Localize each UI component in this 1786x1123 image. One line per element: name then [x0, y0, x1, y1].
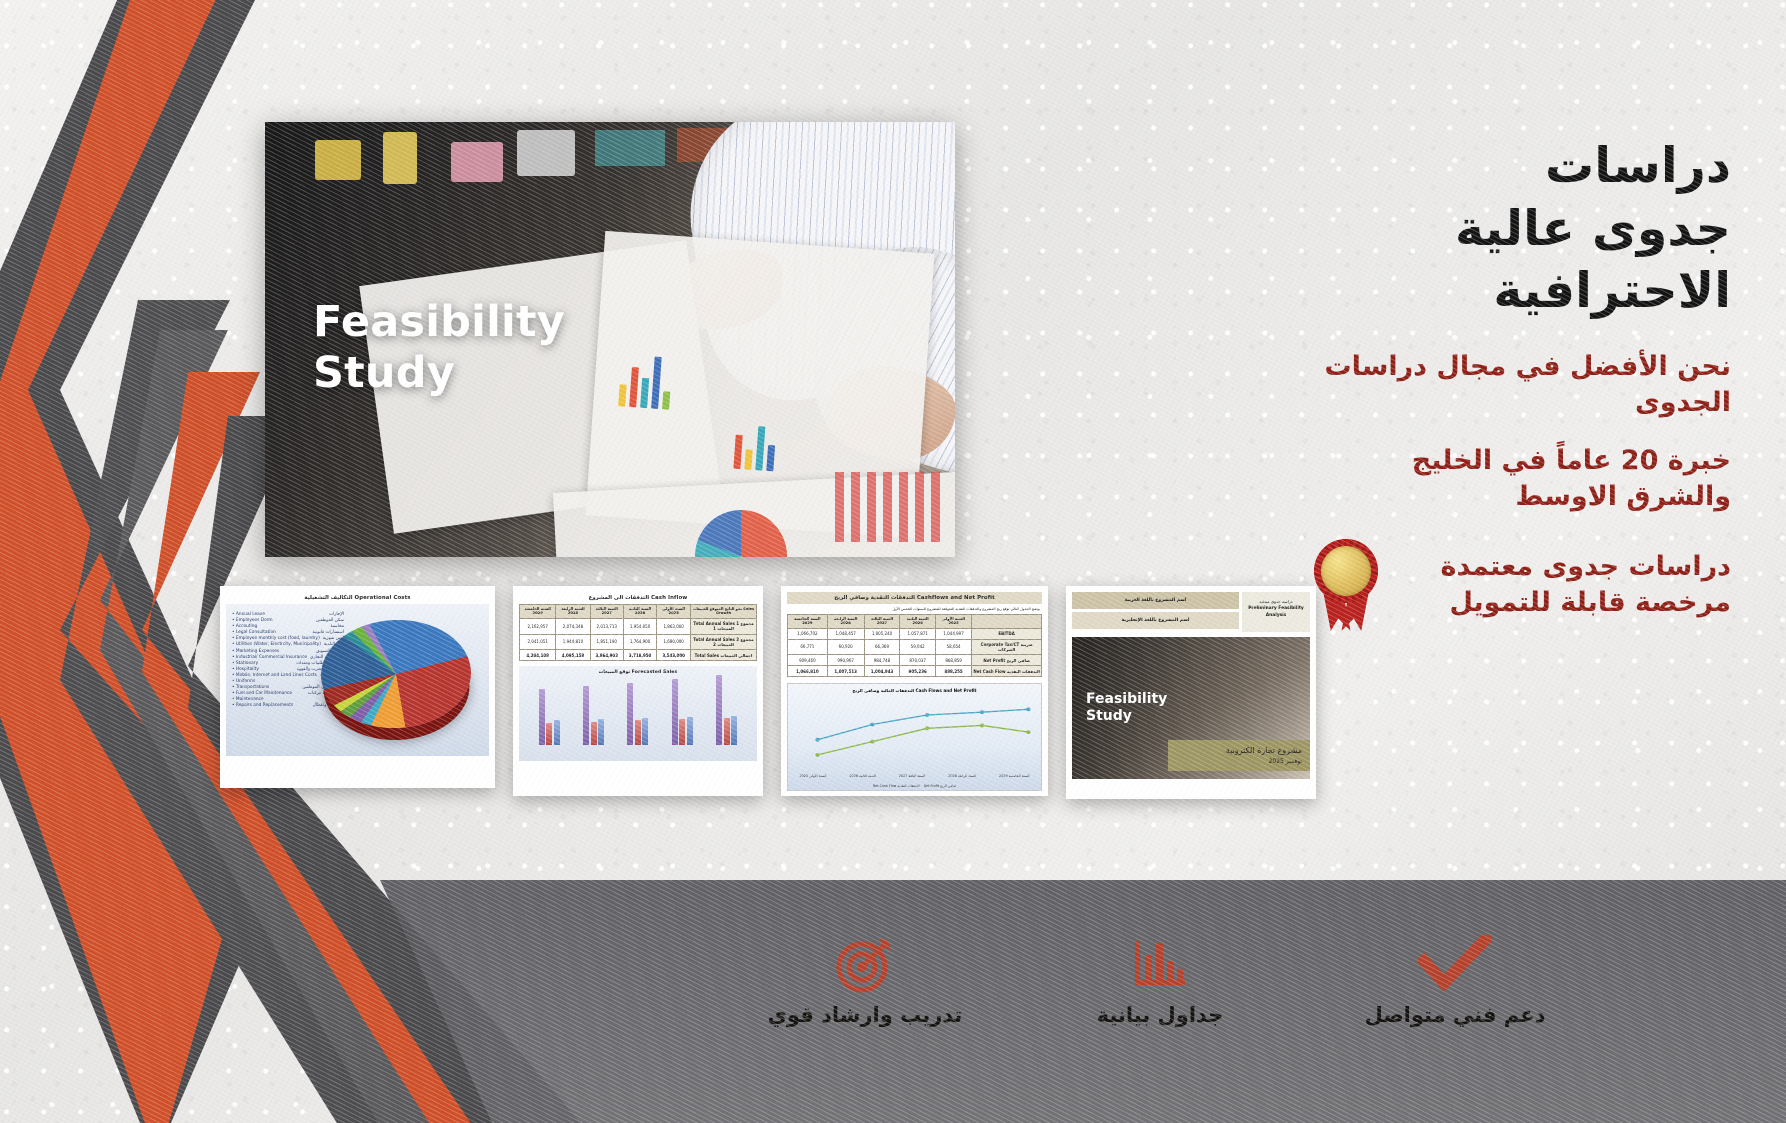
- cover-corner-en: Preliminary Feasibility Analysis: [1248, 606, 1304, 618]
- bar-group: [716, 675, 737, 745]
- hero-title-line-1: Feasibility: [313, 297, 565, 348]
- sticky-note-white: [517, 130, 575, 176]
- cover-project-date: نوفمبر 2025: [1176, 758, 1302, 765]
- bar-group: [539, 689, 560, 745]
- cover-header: اسم المشروع باللغة العربية اسم المشروع ب…: [1072, 592, 1310, 632]
- thumbnail-cover-page[interactable]: اسم المشروع باللغة العربية اسم المشروع ب…: [1066, 586, 1316, 799]
- table-row: 909,460 990,967 984,748 870,037 868,859 …: [788, 655, 1042, 666]
- thumb3-note: يوضح الجدول التالي توقع ربح المشروع والت…: [787, 604, 1042, 614]
- line-chart-svg: [788, 696, 1041, 772]
- cover-photo-title-line-1: Feasibility: [1086, 691, 1167, 708]
- sticky-note-yellow: [315, 140, 361, 180]
- thumbnail-cashflow-net-profit[interactable]: التدفقات النقدية وصافي الربح Cashflows a…: [781, 586, 1048, 796]
- sticky-note-pink: [451, 142, 503, 182]
- mini-bar-chart-a: [618, 352, 673, 409]
- line-chart-legend: Net Cash Flow التدفقات النقدية Net Profi…: [788, 784, 1041, 788]
- table-row: 1,066,810 1,007,513 1,004,943 905,236 88…: [788, 666, 1042, 677]
- cover-project-names: اسم المشروع باللغة العربية اسم المشروع ب…: [1072, 592, 1239, 632]
- thumbnail-operational-costs[interactable]: التكاليف التشغيلية Operational Costs Ann…: [220, 586, 495, 788]
- hero-title: Feasibility Study: [313, 297, 565, 398]
- thumb3-line-chart: التدفقات المالية وصافي الربح Cash Flows …: [787, 683, 1042, 791]
- thumb1-pie-chart: Annual Leaveالإجازات Employees Dormسكن ا…: [226, 604, 489, 756]
- headline-line-2: جدوى عالية: [1311, 198, 1731, 261]
- cover-name-en: اسم المشروع باللغة الإنجليزية: [1072, 612, 1239, 629]
- feature-training[interactable]: تدريب وارشاد قوي: [760, 931, 970, 1027]
- feature-row: دعم فني متواصل جداول بيانية: [760, 931, 1560, 1027]
- check-mark-icon-svg: [1418, 935, 1492, 993]
- table-row: 1,066,702 1,048,457 1,005,240 1,057,871 …: [788, 628, 1042, 639]
- hero-title-line-2: Study: [313, 348, 565, 399]
- feature-support[interactable]: دعم فني متواصل: [1350, 931, 1560, 1027]
- thumb2-title: التدفقات الى المشروع Cash Inflow: [519, 592, 757, 604]
- table-header-row: السنة الخامسة 2029 السنة الرابعة 2028 ال…: [520, 605, 757, 619]
- medal-disc: [1314, 539, 1378, 603]
- selling-point-3: دراسات جدوى معتمدة مرخصة قابلة للتمويل: [1395, 549, 1731, 621]
- thumb2-bar-chart: توقع المبيعات Forecasted Sales: [519, 666, 757, 761]
- cover-corner-ar: دراسة جدوى مبدئية: [1244, 599, 1308, 605]
- document-thumbnail-strip: التكاليف التشغيلية Operational Costs Ann…: [220, 586, 1316, 799]
- cover-photo-title: Feasibility Study: [1086, 691, 1167, 725]
- page-title: دراسات جدوى عالية الاحترافية: [1311, 135, 1731, 323]
- table-total-row: 4,204,108 4,095,158 3,864,903 3,718,950 …: [520, 650, 757, 661]
- mini-bar-chart-b: [733, 421, 776, 472]
- target-arrow-icon: [760, 931, 970, 997]
- bar-chart-title: توقع المبيعات Forecasted Sales: [519, 667, 757, 678]
- cover-project-name: مشروع تجارة الكترونية: [1176, 746, 1302, 755]
- table-row: 2,162,957 2,074,348 2,013,713 1,954,050 …: [520, 618, 757, 634]
- cover-photo-title-line-2: Study: [1086, 708, 1167, 725]
- thumbnail-cash-inflow[interactable]: التدفقات الى المشروع Cash Inflow السنة ا…: [513, 586, 763, 796]
- legend-item: Repairs and Replacementsبدل تالف واعطال: [232, 703, 344, 709]
- bar-chart-icon-svg: [1131, 935, 1189, 993]
- hero-photo: Feasibility Study: [265, 122, 955, 557]
- headline-line-1: دراسات: [1311, 135, 1731, 198]
- bar-group: [627, 683, 648, 745]
- line-chart-x-axis: السنة الأولى 2025 السنة الثانية 2026 الس…: [788, 774, 1041, 778]
- cover-corner-label: دراسة جدوى مبدئية Preliminary Feasibilit…: [1242, 592, 1310, 632]
- thumb3-table: السنة الخامسة 2029 السنة الرابعة 2028 ال…: [787, 614, 1042, 677]
- feature-charts-label: جداول بيانية: [1055, 1003, 1265, 1027]
- cover-photo: Feasibility Study مشروع تجارة الكترونية …: [1072, 637, 1310, 779]
- thumb3-title: التدفقات النقدية وصافي الربح Cashflows a…: [787, 592, 1042, 604]
- thumb2-table: السنة الخامسة 2029 السنة الرابعة 2028 ال…: [519, 604, 757, 661]
- slide-canvas: Feasibility Study دراسات جدوى عالية الاح…: [0, 0, 1786, 1123]
- cover-name-ar: اسم المشروع باللغة العربية: [1072, 592, 1239, 609]
- target-arrow-icon-svg: [834, 933, 896, 995]
- headline-line-3: الاحترافية: [1311, 260, 1731, 323]
- table-row: 2,041,051 1,944,810 1,851,190 1,764,900 …: [520, 634, 757, 650]
- bar-group: [672, 679, 693, 745]
- feature-charts[interactable]: جداول بيانية: [1055, 931, 1265, 1027]
- sticky-note-yellow-2: [383, 132, 417, 184]
- thumb1-title: التكاليف التشغيلية Operational Costs: [226, 592, 489, 604]
- award-medal-icon: [1311, 539, 1381, 631]
- table-row: 66,771 60,920 66,369 59,042 58,654 Corpo…: [788, 639, 1042, 655]
- selling-point-2: خبرة 20 عاماً في الخليج والشرق الاوسط: [1311, 443, 1731, 515]
- check-mark-icon: [1350, 931, 1560, 997]
- table-header-row: السنة الخامسة 2029 السنة الرابعة 2028 ال…: [788, 615, 1042, 629]
- right-text-column: دراسات جدوى عالية الاحترافية نحن الأفضل …: [1311, 135, 1731, 631]
- feature-support-label: دعم فني متواصل: [1350, 1003, 1560, 1027]
- selling-point-3-row: دراسات جدوى معتمدة مرخصة قابلة للتمويل: [1311, 539, 1731, 631]
- bar-chart-icon: [1055, 931, 1265, 997]
- bar-groups: [527, 678, 749, 745]
- bar-group: [583, 686, 604, 745]
- selling-point-1: نحن الأفضل في مجال دراسات الجدوى: [1311, 349, 1731, 421]
- feature-training-label: تدريب وارشاد قوي: [760, 1003, 970, 1027]
- cover-project-band: مشروع تجارة الكترونية نوفمبر 2025: [1168, 740, 1310, 771]
- wall-card-teal: [595, 130, 665, 166]
- line-chart-title: التدفقات المالية وصافي الربح Cash Flows …: [788, 684, 1041, 693]
